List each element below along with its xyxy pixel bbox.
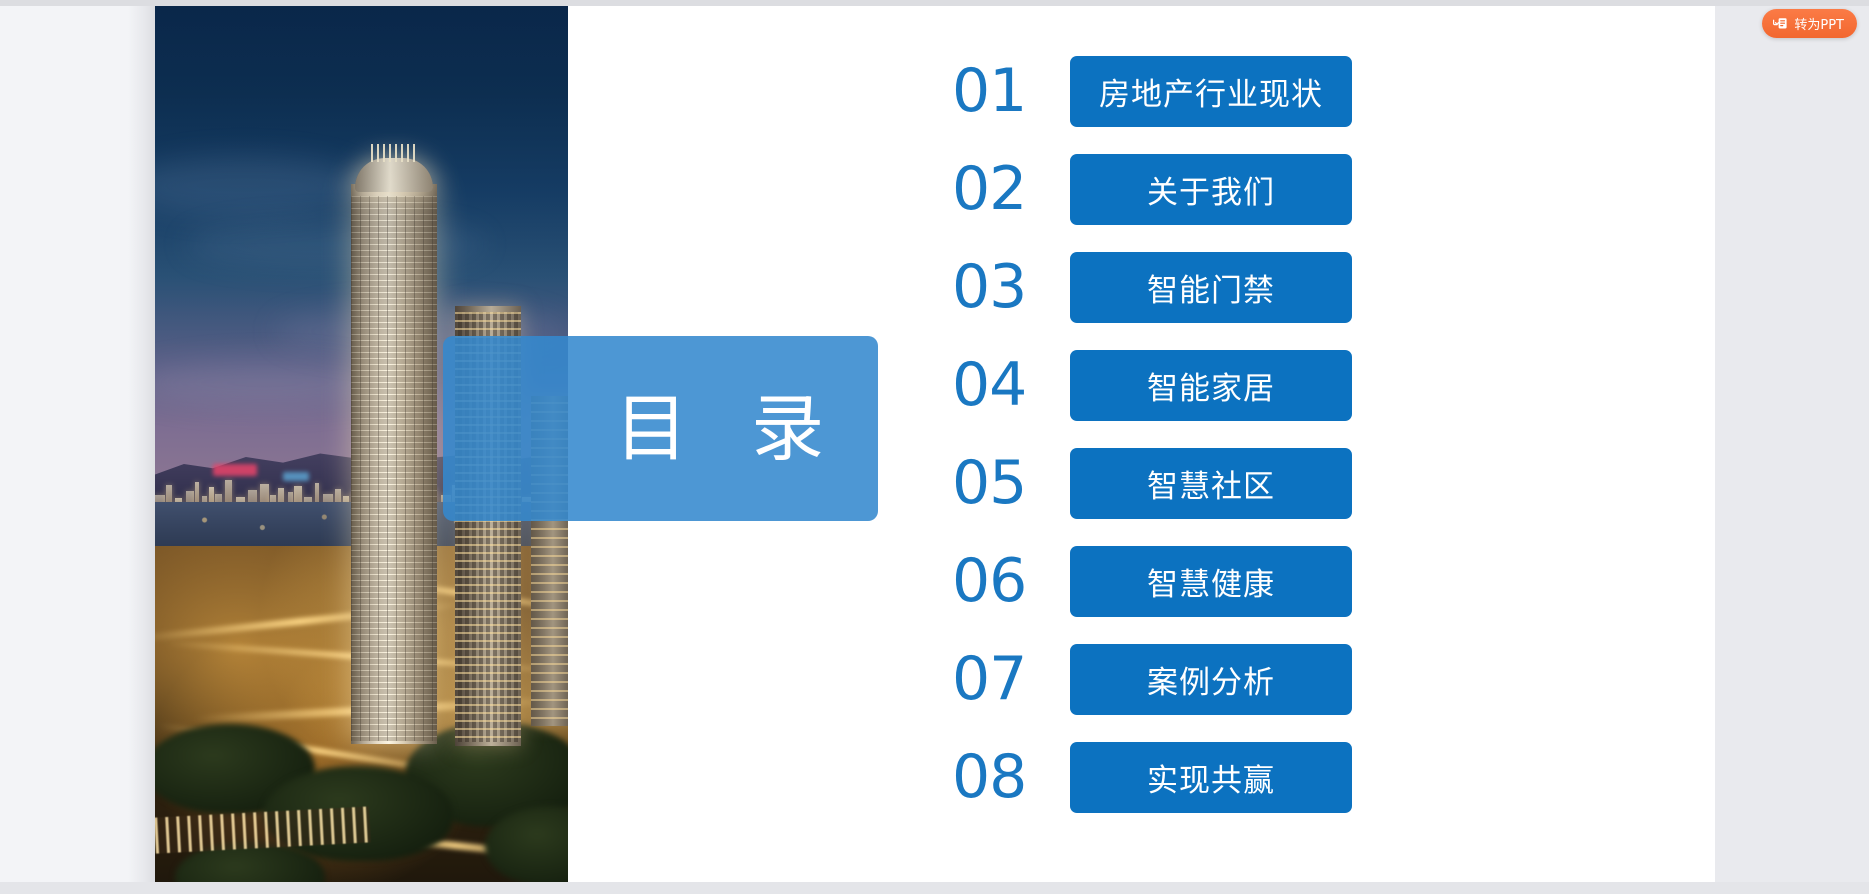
list-item: 03 智能门禁 [952,238,1372,336]
photo-neon-sign [283,472,309,481]
toc-item-button[interactable]: 智慧健康 [1070,546,1352,617]
list-item: 04 智能家居 [952,336,1372,434]
table-of-contents-list: 01 房地产行业现状 02 关于我们 03 智能门禁 04 智能家居 05 智慧… [952,42,1372,826]
toc-item-button[interactable]: 实现共赢 [1070,742,1352,813]
presentation-viewer: 目 录 01 房地产行业现状 02 关于我们 03 智能门禁 04 智能家居 0… [0,0,1869,894]
photo-neon-sign [213,464,257,476]
slide-canvas: 目 录 01 房地产行业现状 02 关于我们 03 智能门禁 04 智能家居 0… [0,6,1715,882]
toc-number: 06 [952,551,1070,611]
photo-main-skyscraper-mullions [351,196,437,741]
list-item: 06 智慧健康 [952,532,1372,630]
toc-number: 08 [952,747,1070,807]
photo-cloud [185,221,485,267]
list-item: 05 智慧社区 [952,434,1372,532]
toc-number: 04 [952,355,1070,415]
table-of-contents-title-plate: 目 录 [443,336,878,521]
list-item: 08 实现共赢 [952,728,1372,826]
page-title: 目 录 [443,392,878,465]
toc-number: 02 [952,159,1070,219]
list-item: 02 关于我们 [952,140,1372,238]
toc-item-button[interactable]: 案例分析 [1070,644,1352,715]
toc-number: 07 [952,649,1070,709]
photo-main-skyscraper-cap [355,158,433,192]
toc-item-button[interactable]: 房地产行业现状 [1070,56,1352,127]
toc-number: 03 [952,257,1070,317]
convert-to-ppt-button[interactable]: 转为PPT [1762,9,1857,38]
list-item: 01 房地产行业现状 [952,42,1372,140]
toc-item-button[interactable]: 关于我们 [1070,154,1352,225]
toc-number: 05 [952,453,1070,513]
slide-left-edge-fade [128,6,158,882]
photo-main-skyscraper-crown [371,144,417,162]
list-item: 07 案例分析 [952,630,1372,728]
toc-item-button[interactable]: 智慧社区 [1070,448,1352,519]
toc-number: 01 [952,61,1070,121]
convert-to-ppt-label: 转为PPT [1794,14,1844,33]
viewer-bottom-strip [0,882,1869,894]
toc-item-button[interactable]: 智能门禁 [1070,252,1352,323]
toc-item-button[interactable]: 智能家居 [1070,350,1352,421]
convert-to-ppt-icon [1772,16,1788,32]
